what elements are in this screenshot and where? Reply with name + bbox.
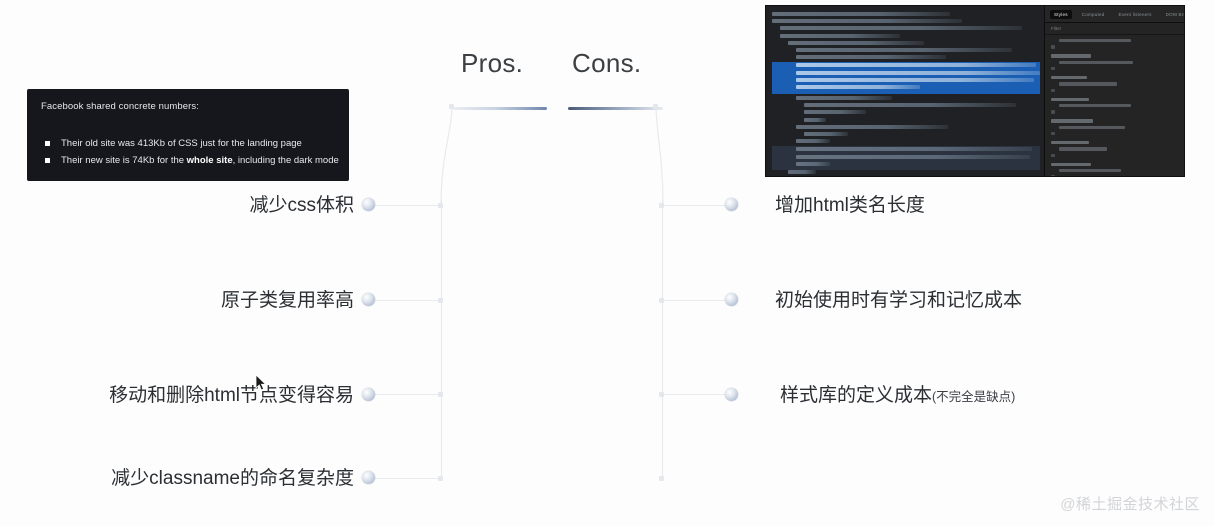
facebook-stats-callout: Facebook shared concrete numbers: Their … <box>27 89 349 181</box>
selected-code-line <box>772 62 1040 94</box>
watermark: @稀土掘金技术社区 <box>1060 493 1200 514</box>
cons-node-2 <box>659 298 664 303</box>
pros-label-3: 移动和删除html节点变得容易 <box>84 385 354 407</box>
css-rule <box>1051 39 1178 49</box>
devtools-screenshot: Styles Computed Event listeners DOM Brea… <box>765 5 1185 177</box>
cons-trunk-end-node <box>659 476 664 481</box>
devtools-tab-bar[interactable]: Styles Computed Event listeners DOM Brea… <box>1045 6 1184 23</box>
list-item: Their new site is 74Kb for the whole sit… <box>41 152 335 169</box>
tab-styles[interactable]: Styles <box>1050 10 1072 19</box>
cons-label-2: 初始使用时有学习和记忆成本 <box>775 290 1022 312</box>
cons-trunk-line <box>662 200 663 480</box>
pros-trunk-line <box>441 200 442 480</box>
pros-label-2: 原子类复用率高 <box>194 290 354 312</box>
cons-label-3: 样式库的定义成本(不完全是缺点) <box>780 385 1015 408</box>
pros-column-title: Pros. <box>461 48 523 79</box>
css-rule <box>1051 54 1178 70</box>
tab-computed[interactable]: Computed <box>1078 10 1109 19</box>
callout-bullet-list: Their old site was 413Kb of CSS just for… <box>41 135 335 169</box>
bullet-text: Their new site is 74Kb for the <box>61 155 187 166</box>
tab-dom-breakpoints[interactable]: DOM Breakpoints <box>1162 10 1184 19</box>
cons-branch-2 <box>662 300 729 301</box>
callout-title: Facebook shared concrete numbers: <box>41 101 335 113</box>
pros-branch-4 <box>375 478 442 479</box>
pros-branch-1 <box>375 205 442 206</box>
html-source-pane <box>766 6 1044 176</box>
bullet-square-icon <box>45 158 50 163</box>
highlighted-code-block <box>772 146 1040 170</box>
cons-column-title: Cons. <box>572 48 641 79</box>
cons-node-3 <box>659 392 664 397</box>
pros-node-4 <box>438 476 443 481</box>
bullet-text-bold: whole site <box>187 155 233 166</box>
mouse-cursor-icon <box>255 374 267 392</box>
cons-label-3-text: 样式库的定义成本 <box>780 385 932 406</box>
pros-dot-4[interactable] <box>362 471 375 484</box>
cons-divider-bar <box>568 107 663 110</box>
pros-trunk-curve <box>437 104 453 214</box>
pros-node-3 <box>438 392 443 397</box>
list-item: Their old site was 413Kb of CSS just for… <box>41 135 335 152</box>
pros-branch-3 <box>375 394 442 395</box>
pros-branch-2 <box>375 300 442 301</box>
cons-branch-3 <box>662 394 729 395</box>
cons-dot-1[interactable] <box>725 198 738 211</box>
cons-label-3-note: (不完全是缺点) <box>932 390 1015 404</box>
css-rule <box>1051 76 1178 92</box>
css-rule <box>1051 119 1178 135</box>
tab-event-listeners[interactable]: Event listeners <box>1115 10 1156 19</box>
styles-filter-input[interactable]: Filter <box>1045 23 1184 35</box>
styles-pane: Styles Computed Event listeners DOM Brea… <box>1044 6 1184 176</box>
pros-label-1: 减少css体积 <box>222 195 354 217</box>
pros-node-2 <box>438 298 443 303</box>
bullet-text: Their old site was 413Kb of CSS just for… <box>61 138 302 149</box>
pros-dot-1[interactable] <box>362 198 375 211</box>
css-rule <box>1051 98 1178 114</box>
css-rule <box>1051 141 1178 157</box>
cons-trunk-top-node <box>653 104 658 109</box>
css-rules-list <box>1045 35 1184 176</box>
pros-node-1 <box>438 203 443 208</box>
pros-trunk-top-node <box>449 104 454 109</box>
pros-divider-bar <box>452 107 547 110</box>
pros-dot-3[interactable] <box>362 388 375 401</box>
pros-dot-2[interactable] <box>362 293 375 306</box>
cons-dot-3[interactable] <box>725 388 738 401</box>
cons-trunk-curve <box>655 104 671 214</box>
cons-label-1: 增加html类名长度 <box>775 195 925 217</box>
cons-branch-1 <box>662 205 729 206</box>
bullet-square-icon <box>45 141 50 146</box>
css-rule <box>1051 163 1178 176</box>
cons-dot-2[interactable] <box>725 293 738 306</box>
pros-label-4: 减少classname的命名复杂度 <box>80 468 354 490</box>
cons-node-1 <box>659 203 664 208</box>
bullet-text-tail: , including the dark mode <box>233 155 339 166</box>
